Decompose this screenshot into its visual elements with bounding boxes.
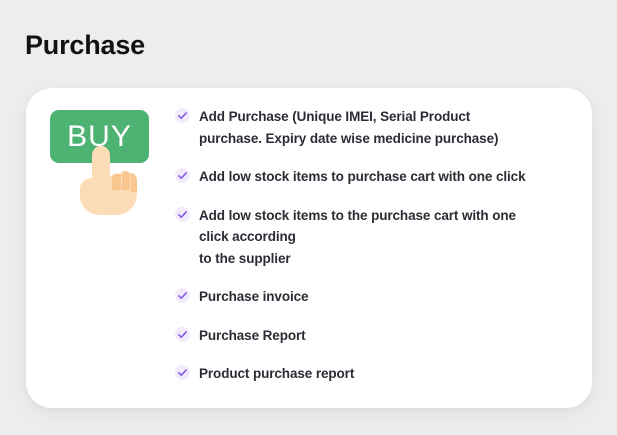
check-icon — [175, 327, 190, 342]
list-item-label: Add low stock items to purchase cart wit… — [199, 166, 525, 188]
list-item-label: Product purchase report — [199, 363, 354, 385]
list-item: Purchase Report — [175, 325, 575, 347]
list-item-label: Add Purchase (Unique IMEI, Serial Produc… — [199, 106, 498, 149]
check-icon — [175, 288, 190, 303]
check-icon — [175, 207, 190, 222]
pointing-hand-icon — [68, 144, 144, 216]
list-item-label: Purchase Report — [199, 325, 306, 347]
list-item: Add Purchase (Unique IMEI, Serial Produc… — [175, 106, 575, 149]
list-item: Add low stock items to the purchase cart… — [175, 205, 575, 270]
list-item: Product purchase report — [175, 363, 575, 385]
list-item: Purchase invoice — [175, 286, 575, 308]
list-item: Add low stock items to purchase cart wit… — [175, 166, 575, 188]
feature-list: Add Purchase (Unique IMEI, Serial Produc… — [175, 106, 575, 385]
page-title: Purchase — [25, 28, 145, 62]
check-icon — [175, 108, 190, 123]
buy-illustration: BUY — [50, 106, 170, 216]
check-icon — [175, 168, 190, 183]
purchase-feature-card: BUY Add Purchase (Unique IMEI, Serial — [26, 88, 592, 408]
check-icon — [175, 365, 190, 380]
list-item-label: Purchase invoice — [199, 286, 308, 308]
list-item-label: Add low stock items to the purchase cart… — [199, 205, 516, 270]
